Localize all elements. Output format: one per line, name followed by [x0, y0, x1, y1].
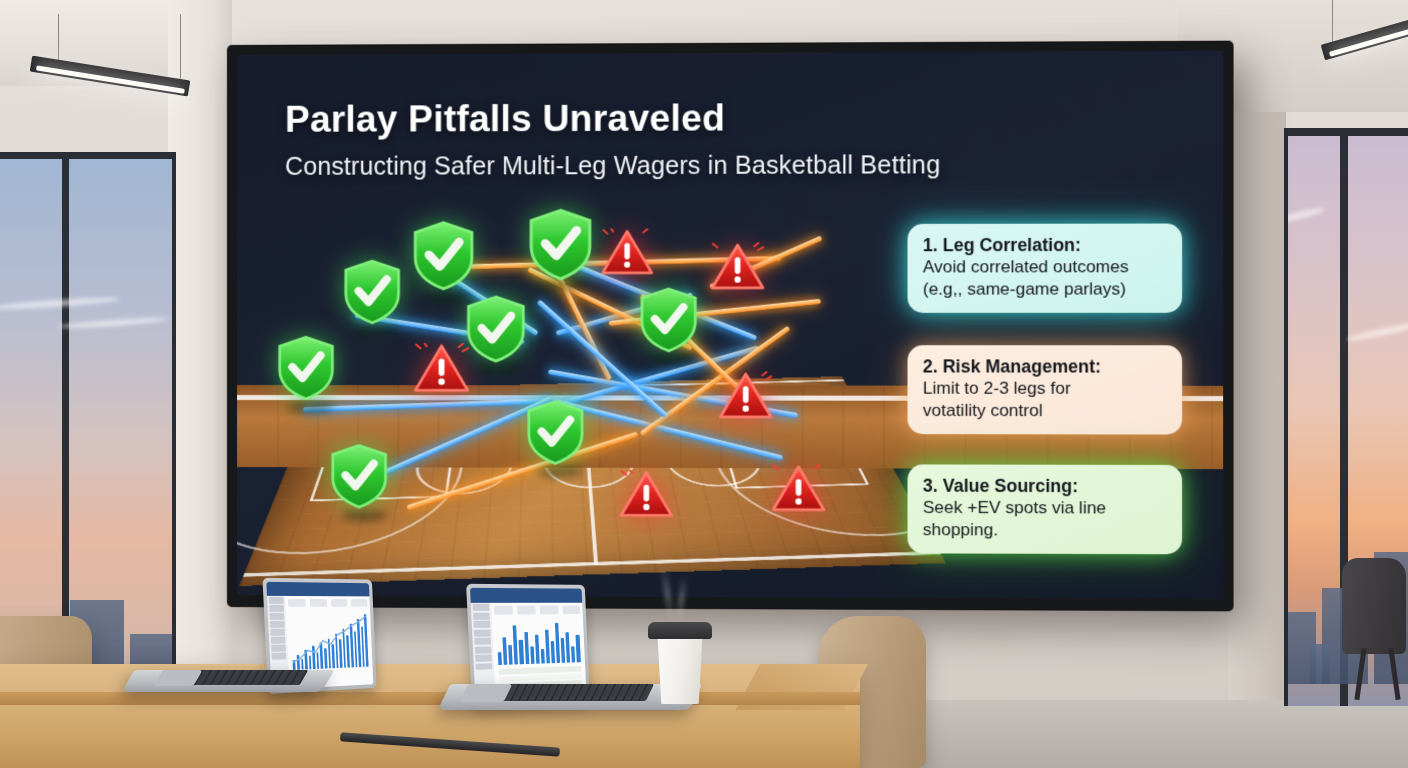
insight-card-line2: votatility control	[923, 399, 1167, 421]
window-glare	[1346, 320, 1408, 343]
warning-triangle-icon	[710, 242, 765, 290]
presentation-slide: Parlay Pitfalls Unraveled Constructing S…	[237, 51, 1223, 599]
warning-triangle-icon	[718, 371, 773, 419]
insight-card-value-sourcing[interactable]: 3. Value Sourcing: Seek +EV spots via li…	[908, 464, 1183, 554]
insight-card-risk-management[interactable]: 2. Risk Management: Limit to 2-3 legs fo…	[908, 345, 1183, 434]
window-header	[1288, 128, 1408, 136]
wall-pillar-left	[168, 0, 232, 706]
shield-check-icon	[528, 208, 593, 280]
coffee-cup-lid	[648, 622, 712, 639]
warning-triangle-icon	[601, 228, 654, 275]
insight-card-line1: Avoid correlated outcomes	[923, 256, 1167, 278]
insight-card-title: 1. Leg Correlation:	[923, 235, 1167, 257]
insight-card-leg-correlation[interactable]: 1. Leg Correlation: Avoid correlated out…	[908, 224, 1183, 313]
warning-triangle-icon	[413, 343, 469, 393]
shield-check-icon	[412, 221, 474, 291]
shield-check-icon	[343, 259, 401, 325]
insight-card-line1: Seek +EV spots via line	[923, 497, 1167, 519]
insight-card-line1: Limit to 2-3 legs for	[923, 378, 1167, 400]
shield-check-icon	[330, 443, 388, 509]
insight-card-line2: shopping.	[923, 519, 1167, 541]
shield-check-icon	[277, 335, 335, 401]
wall-display[interactable]: Parlay Pitfalls Unraveled Constructing S…	[228, 42, 1233, 611]
pendant-wire	[180, 14, 181, 88]
diagram-nodes	[237, 202, 944, 599]
window-glare	[58, 316, 168, 330]
window-header	[0, 152, 172, 159]
table-edge	[0, 692, 860, 705]
page-title: Parlay Pitfalls Unraveled	[285, 97, 725, 141]
shield-check-icon	[526, 399, 585, 465]
window-glare	[0, 295, 120, 311]
warning-triangle-icon	[771, 464, 826, 513]
window-right	[1284, 128, 1408, 706]
coffee-cup[interactable]	[654, 630, 706, 704]
insight-card-title: 3. Value Sourcing:	[923, 476, 1167, 498]
chair-window	[1342, 558, 1406, 654]
window-glare	[1284, 206, 1326, 226]
insight-card-title: 2. Risk Management:	[923, 356, 1167, 378]
shield-check-icon	[639, 287, 698, 353]
warning-triangle-icon	[619, 470, 674, 518]
insight-card-line2: (e.g,, same-game parlays)	[923, 278, 1167, 300]
pendant-wire	[1332, 0, 1333, 44]
shield-check-icon	[466, 295, 526, 363]
page-subtitle: Constructing Safer Multi-Leg Wagers in B…	[285, 151, 940, 182]
office-scene: Parlay Pitfalls Unraveled Constructing S…	[0, 0, 1408, 768]
